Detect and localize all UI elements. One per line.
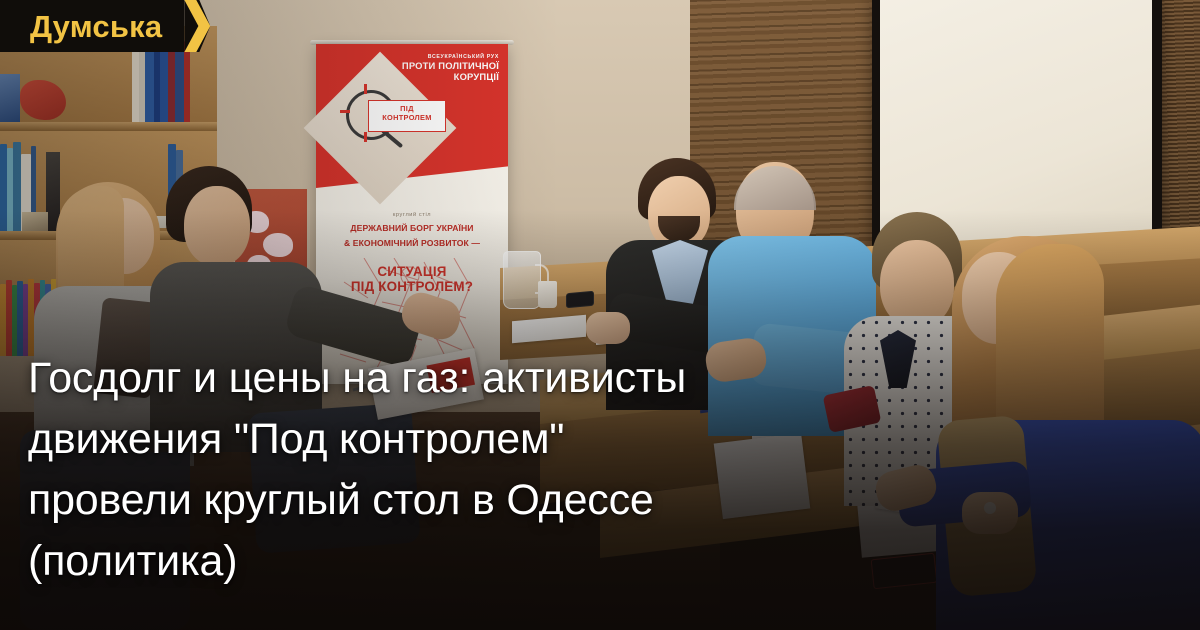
logo-plate: Думська bbox=[0, 0, 184, 52]
page-title: Госдолг и цены на газ: активисты движени… bbox=[28, 348, 728, 592]
water-pitcher bbox=[503, 251, 541, 309]
smartphone-red-case bbox=[871, 553, 938, 590]
banner-question-line2: ПІД КОНТРОЛЕМ? bbox=[316, 279, 508, 294]
article-preview-card: ВСЕУКРАЇНСЬКИЙ РУХ ПРОТИ ПОЛІТИЧНОЇ КОРУ… bbox=[0, 0, 1200, 630]
ring bbox=[984, 502, 996, 514]
hand bbox=[586, 312, 630, 344]
banner-movement-line2: ПРОТИ ПОЛІТИЧНОЇ bbox=[402, 60, 499, 71]
banner-logo-plate: ПІД КОНТРОЛЕМ bbox=[368, 100, 446, 132]
banner-event-kicker: круглий стіл bbox=[316, 212, 508, 218]
banner-logo-line2: КОНТРОЛЕМ bbox=[369, 113, 445, 122]
crosshair-mark-left bbox=[340, 110, 350, 113]
crosshair-mark-top bbox=[364, 84, 367, 94]
crosshair-mark-bottom bbox=[364, 132, 367, 142]
site-logo[interactable]: Думська bbox=[0, 0, 210, 52]
banner-movement-title: ВСЕУКРАЇНСЬКИЙ РУХ ПРОТИ ПОЛІТИЧНОЇ КОРУ… bbox=[402, 54, 499, 82]
logo-text: Думська bbox=[30, 11, 162, 42]
document-sheet bbox=[714, 433, 811, 519]
banner-logo-line1: ПІД bbox=[369, 104, 445, 113]
banner-topic-line1: ДЕРЖАВНИЙ БОРГ УКРАЇНИ bbox=[316, 223, 508, 233]
banner-question-line1: СИТУАЦІЯ bbox=[316, 264, 508, 279]
chevron-right-icon bbox=[184, 0, 210, 52]
banner-topic-line2: & ЕКОНОМІЧНИЙ РОЗВИТОК — bbox=[316, 238, 508, 248]
banner-movement-line3: КОРУПЦІЇ bbox=[402, 71, 499, 82]
drinking-cup bbox=[538, 281, 557, 308]
smartphone bbox=[566, 291, 594, 308]
banner-event-block: круглий стіл ДЕРЖАВНИЙ БОРГ УКРАЇНИ & ЕК… bbox=[316, 212, 508, 294]
